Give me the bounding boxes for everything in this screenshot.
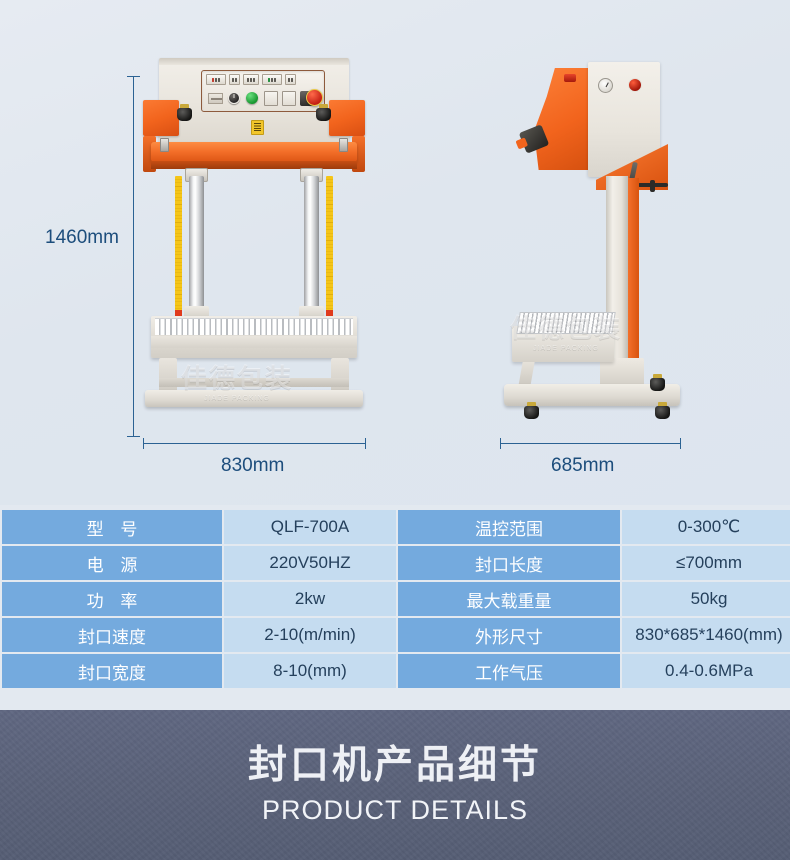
display-small-3-icon <box>285 74 296 85</box>
front-view-sealing-machine: 佳德包装 JIADE PACKING <box>143 58 365 443</box>
spec-key: 工作气压 <box>398 654 620 688</box>
table-row: 封口宽度 8-10(mm) 工作气压 0.4-0.6MPa <box>2 654 790 688</box>
spec-key: 最大载重量 <box>398 582 620 616</box>
front-width-cap-right <box>365 438 366 449</box>
temperature-display-icon <box>206 74 226 85</box>
spec-value: 0.4-0.6MPa <box>622 654 790 688</box>
card-slot-icon <box>208 93 223 104</box>
side-orange-housing-upper <box>534 68 592 170</box>
spec-value: 2-10(m/min) <box>224 618 396 652</box>
base-leg-right <box>331 358 349 394</box>
roller-conveyor-deck <box>151 316 357 358</box>
caution-label-icon <box>251 120 264 135</box>
measuring-scale-right <box>326 176 333 324</box>
display-small-2-icon <box>243 74 259 85</box>
spec-value: ≤700mm <box>622 546 790 580</box>
specification-table: 型 号 QLF-700A 温控范围 0-300℃ 电 源 220V50HZ 封口… <box>0 508 790 690</box>
spec-key: 外形尺寸 <box>398 618 620 652</box>
spec-value: 830*685*1460(mm) <box>622 618 790 652</box>
side-roller-deck <box>512 326 614 362</box>
spec-value: 0-300℃ <box>622 510 790 544</box>
display-small-1-icon <box>229 74 240 85</box>
conveyor-rollers <box>155 318 353 335</box>
machine-head-housing <box>159 58 349 144</box>
base-leg-left <box>159 358 177 394</box>
head-top-edge <box>159 58 349 65</box>
front-width-dimension-label: 830mm <box>221 455 284 477</box>
pneumatic-cylinder-left <box>189 176 204 313</box>
height-dimension-label: 1460mm <box>45 227 119 249</box>
table-row: 电 源 220V50HZ 封口长度 ≤700mm <box>2 546 790 580</box>
control-panel <box>201 70 325 112</box>
spec-key: 封口速度 <box>2 618 222 652</box>
table-row: 型 号 QLF-700A 温控范围 0-300℃ <box>2 510 790 544</box>
base-frame <box>143 358 365 408</box>
side-column-orange-strip <box>628 178 639 388</box>
spec-value: 220V50HZ <box>224 546 396 580</box>
side-red-knob[interactable] <box>564 74 576 82</box>
banner-title-english: PRODUCT DETAILS <box>262 795 528 826</box>
table-row: 封口速度 2-10(m/min) 外形尺寸 830*685*1460(mm) <box>2 618 790 652</box>
sealing-bracket-right <box>339 138 348 152</box>
side-width-dimension-line <box>500 443 680 444</box>
side-caster-left <box>524 402 539 419</box>
base-crossbar <box>159 378 349 387</box>
panel-control-row <box>206 88 322 110</box>
spec-value: 8-10(mm) <box>224 654 396 688</box>
sealing-bracket-left <box>160 138 169 152</box>
pressure-gauge-icon <box>598 78 613 93</box>
speed-display-icon <box>262 74 282 85</box>
spec-key: 型 号 <box>2 510 222 544</box>
selector-switch-2[interactable] <box>282 91 296 106</box>
sealing-bar <box>151 142 357 162</box>
head-side-block-left <box>143 100 179 136</box>
height-dimension-cap-bottom <box>127 436 140 437</box>
cross-handle-icon[interactable] <box>638 180 668 188</box>
spec-key: 温控范围 <box>398 510 620 544</box>
start-button[interactable] <box>246 92 258 104</box>
spec-key: 封口长度 <box>398 546 620 580</box>
caster-wheel-left <box>177 104 192 121</box>
product-details-banner: 封口机产品细节 PRODUCT DETAILS <box>0 710 790 860</box>
side-view-sealing-machine: 佳德包装 JIADE PACKING <box>500 58 690 443</box>
side-caster-rear <box>650 374 665 391</box>
selector-switch-1[interactable] <box>264 91 278 106</box>
measuring-scale-left <box>175 176 182 324</box>
spec-key: 封口宽度 <box>2 654 222 688</box>
side-caster-right <box>655 402 670 419</box>
side-power-button[interactable] <box>628 78 642 92</box>
table-row: 功 率 2kw 最大载重量 50kg <box>2 582 790 616</box>
spec-value: QLF-700A <box>224 510 396 544</box>
spec-key: 电 源 <box>2 546 222 580</box>
deck-body <box>151 336 357 348</box>
digital-display-row <box>206 74 322 85</box>
sealing-bar-assembly <box>143 136 365 176</box>
product-photo-area: 1460mm 830mm 685mm <box>0 0 790 505</box>
caster-wheel-right <box>316 104 331 121</box>
side-conveyor-rollers <box>516 312 615 334</box>
spec-value: 50kg <box>622 582 790 616</box>
side-width-dimension-label: 685mm <box>551 455 614 477</box>
height-dimension-line <box>133 76 134 436</box>
banner-title-chinese: 封口机产品细节 <box>248 744 542 788</box>
front-width-dimension-line <box>143 443 365 444</box>
spec-key: 功 率 <box>2 582 222 616</box>
height-dimension-cap-top <box>127 76 140 77</box>
pneumatic-cylinder-right <box>304 176 319 313</box>
adjust-knob[interactable] <box>228 92 240 104</box>
head-side-block-right <box>329 100 365 136</box>
base-foot-rail <box>145 390 363 407</box>
spec-value: 2kw <box>224 582 396 616</box>
sealing-bar-lip <box>151 161 357 169</box>
